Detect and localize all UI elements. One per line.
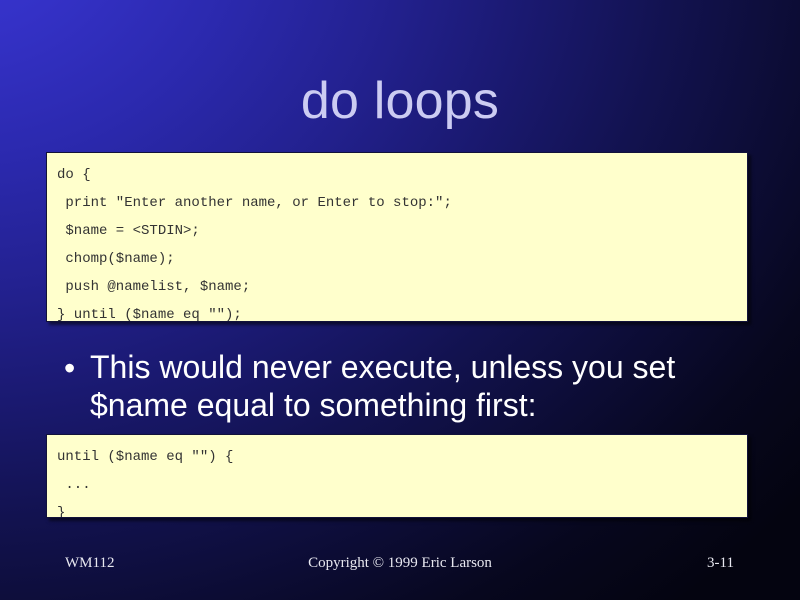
code-line: chomp($name);	[57, 245, 747, 273]
code-block-do-until: do { print "Enter another name, or Enter…	[46, 152, 748, 322]
slide-footer: WM112 Copyright © 1999 Eric Larson 3-11	[0, 551, 800, 575]
code-line: $name = <STDIN>;	[57, 217, 747, 245]
code-line: }	[57, 499, 747, 518]
code-block-until: until ($name eq "") { ... }	[46, 434, 748, 518]
footer-page-number: 3-11	[707, 551, 734, 575]
code-line: push @namelist, $name;	[57, 273, 747, 301]
code-line: ...	[57, 471, 747, 499]
code-line: do {	[57, 161, 747, 189]
footer-copyright: Copyright © 1999 Eric Larson	[0, 551, 800, 575]
slide-title: do loops	[0, 72, 800, 130]
bullet-text: This would never execute, unless you set…	[90, 348, 700, 424]
bullet-marker-icon: •	[58, 348, 90, 388]
list-item: • This would never execute, unless you s…	[58, 348, 758, 424]
presentation-slide: do loops do { print "Enter another name,…	[0, 0, 800, 600]
code-line: print "Enter another name, or Enter to s…	[57, 189, 747, 217]
bullet-list: • This would never execute, unless you s…	[58, 348, 758, 424]
code-line: until ($name eq "") {	[57, 443, 747, 471]
code-line: } until ($name eq "");	[57, 301, 747, 322]
